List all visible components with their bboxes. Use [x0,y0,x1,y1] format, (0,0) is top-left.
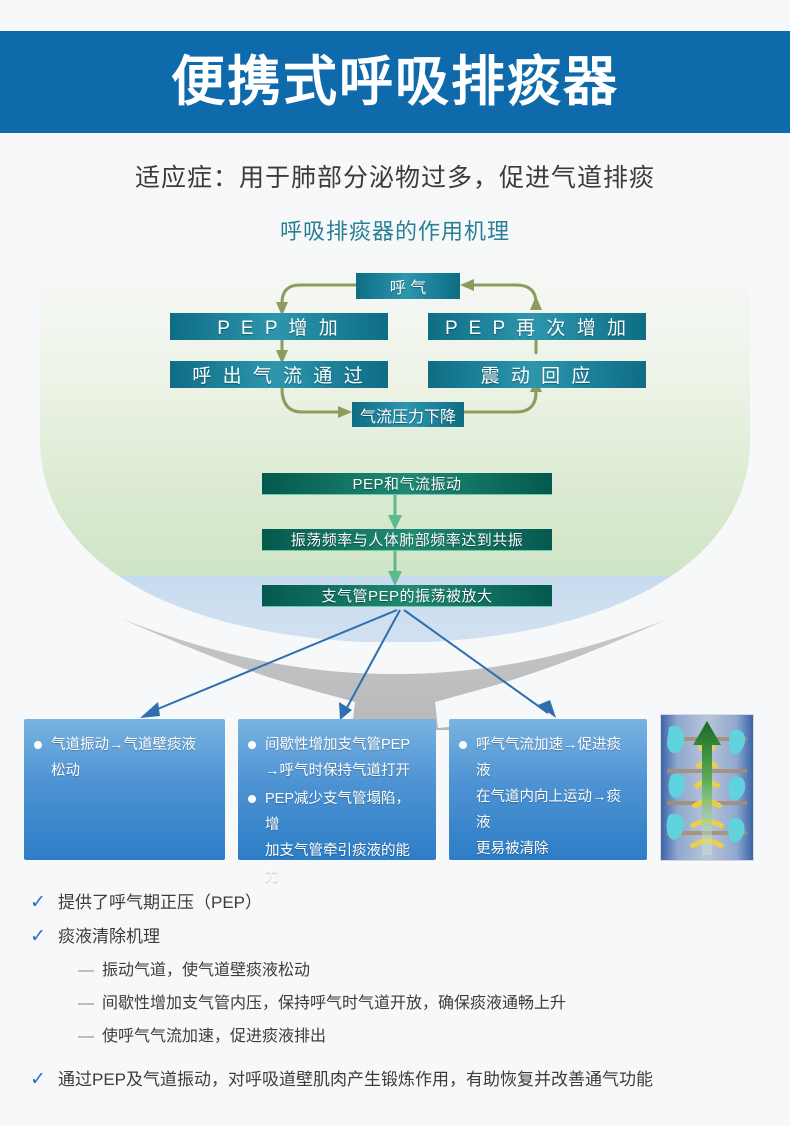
checklist-sub-item-2: — 间歇性增加支气管内压，保持呼气时气道开放，确保痰液通畅上升 [78,987,760,1020]
indication-text: 适应症：用于肺部分泌物过多，促进气道排痰 [0,158,790,194]
list-item: 呼气气流加速→促进痰液 在气道内向上运动→痰液 更易被清除 [459,732,635,862]
card-airflow-acceleration[interactable]: 呼气气流加速→促进痰液 在气道内向上运动→痰液 更易被清除 [449,719,647,860]
checklist-item-2: ✓ 痰液清除机理 [30,920,760,954]
bullet-dot-icon [459,741,467,749]
flow-box-vibration-response[interactable]: 震 动 回 应 [428,361,646,388]
flow-box-pep-increase-again[interactable]: P E P 再 次 增 加 [428,313,646,340]
card-airway-vibration[interactable]: 气道振动→气道壁痰液 松动 [24,719,225,860]
check-icon: ✓ [30,1063,46,1097]
checklist-sub-item-1: — 振动气道，使气道壁痰液松动 [78,954,760,987]
page-title: 便携式呼吸排痰器 [171,55,619,109]
benefits-checklist: ✓ 提供了呼气期正压（PEP） ✓ 痰液清除机理 — 振动气道，使气道壁痰液松动… [30,886,760,1097]
header-bar: 便携式呼吸排痰器 [0,31,790,133]
list-item: 间歇性增加支气管PEP →呼气时保持气道打开 [248,732,424,784]
mechanism-heading: 呼吸排痰器的作用机理 [0,214,790,246]
bullet-dot-icon [248,795,256,803]
chain-box-resonance[interactable]: 振荡频率与人体肺部频率达到共振 [262,529,552,551]
card-intermittent-pep[interactable]: 间歇性增加支气管PEP →呼气时保持气道打开 PEP减少支气管塌陷，增 加支气管… [238,719,436,860]
card-2-list: 间歇性增加支气管PEP →呼气时保持气道打开 PEP减少支气管塌陷，增 加支气管… [248,732,424,890]
dash-icon: — [78,954,94,987]
product-infographic-page: 便携式呼吸排痰器 适应症：用于肺部分泌物过多，促进气道排痰 呼吸排痰器的作用机理 [0,0,790,1126]
chain-box-amplified-oscillation[interactable]: 支气管PEP的振荡被放大 [262,585,552,607]
fanout-arrowheads [140,700,556,720]
bullet-dot-icon [248,741,256,749]
check-icon: ✓ [30,886,46,920]
chain-box-pep-and-airflow-oscillation[interactable]: PEP和气流振动 [262,473,552,495]
dash-icon: — [78,987,94,1020]
bullet-dot-icon [34,741,42,749]
dash-icon: — [78,1020,94,1053]
flow-box-pressure-drop[interactable]: 气流压力下降 [352,402,464,427]
card-3-list: 呼气气流加速→促进痰液 在气道内向上运动→痰液 更易被清除 [459,732,635,862]
card-1-list: 气道振动→气道壁痰液 松动 [34,732,213,784]
checklist-item-3: ✓ 通过PEP及气道振动，对呼吸道壁肌肉产生锻炼作用，有助恢复并改善通气功能 [30,1063,760,1097]
checklist-sub-item-3: — 使呼气气流加速，促进痰液排出 [78,1020,760,1053]
airway-illustration-svg [661,715,753,860]
flow-box-exhaled-airflow-passes[interactable]: 呼 出 气 流 通 过 [170,361,388,388]
list-item: PEP减少支气管塌陷，增 加支气管牵引痰液的能力 [248,786,424,890]
list-item: 气道振动→气道壁痰液 松动 [34,732,213,784]
check-icon: ✓ [30,920,46,954]
airway-mucus-illustration [660,714,754,861]
flow-box-exhale[interactable]: 呼 气 [356,273,460,299]
checklist-item-1: ✓ 提供了呼气期正压（PEP） [30,886,760,920]
flow-box-pep-increase[interactable]: P E P 增 加 [170,313,388,340]
